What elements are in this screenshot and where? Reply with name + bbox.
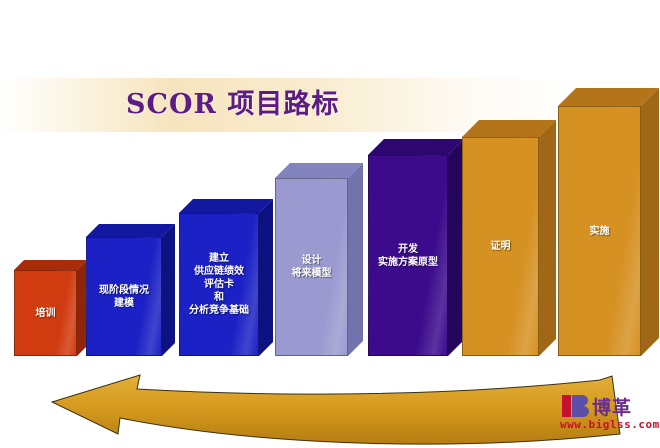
bar-7-front-face: 实施 bbox=[558, 106, 641, 356]
slide-canvas: SCOR 项目路标 培训现阶段情况 建模建立 供应链绩效 评估卡 和 分析竞争基… bbox=[0, 0, 660, 448]
bar-1-top-face bbox=[14, 260, 87, 270]
bar-4-front-face: 设计 将来模型 bbox=[275, 178, 348, 356]
bar-5-label: 开发 实施方案原型 bbox=[375, 243, 441, 269]
bar-2-front-face: 现阶段情况 建模 bbox=[86, 237, 162, 356]
bar-2-top-face bbox=[86, 224, 175, 237]
bar-7-side-face bbox=[641, 88, 659, 356]
bar-3-side-face bbox=[259, 199, 273, 356]
bar-6-side-face bbox=[539, 120, 556, 356]
logo-brand-name: 博革 bbox=[592, 393, 632, 420]
bar-4-label: 设计 将来模型 bbox=[289, 254, 335, 280]
bar-7: 实施 bbox=[558, 88, 659, 356]
bar-5: 开发 实施方案原型 bbox=[368, 139, 464, 356]
bar-7-label: 实施 bbox=[587, 225, 613, 238]
bar-1-label: 培训 bbox=[33, 307, 59, 320]
bar-1-front-face: 培训 bbox=[14, 270, 77, 356]
bar-2-side-face bbox=[162, 224, 175, 356]
bar-4-side-face bbox=[348, 163, 363, 356]
logo-b-mark-icon bbox=[562, 394, 590, 418]
bar-5-top-face bbox=[368, 139, 464, 155]
bar-3-front-face: 建立 供应链绩效 评估卡 和 分析竞争基础 bbox=[179, 213, 259, 356]
bar-4-top-face bbox=[275, 163, 363, 178]
brand-logo: 博革 www.biglss.com bbox=[560, 392, 658, 444]
bar-6: 证明 bbox=[462, 120, 556, 356]
bar-6-front-face: 证明 bbox=[462, 137, 539, 356]
logo-url: www.biglss.com bbox=[560, 418, 660, 431]
bar-3-label: 建立 供应链绩效 评估卡 和 分析竞争基础 bbox=[186, 252, 252, 317]
bar-3: 建立 供应链绩效 评估卡 和 分析竞争基础 bbox=[179, 199, 273, 356]
bar-1: 培训 bbox=[14, 260, 87, 356]
bar-2: 现阶段情况 建模 bbox=[86, 224, 175, 356]
bar-6-label: 证明 bbox=[488, 240, 514, 253]
bar-5-front-face: 开发 实施方案原型 bbox=[368, 155, 448, 356]
bar-2-label: 现阶段情况 建模 bbox=[96, 284, 152, 310]
bar-4: 设计 将来模型 bbox=[275, 163, 363, 356]
page-title: SCOR 项目路标 bbox=[126, 82, 339, 121]
bar-3-top-face bbox=[179, 199, 273, 213]
